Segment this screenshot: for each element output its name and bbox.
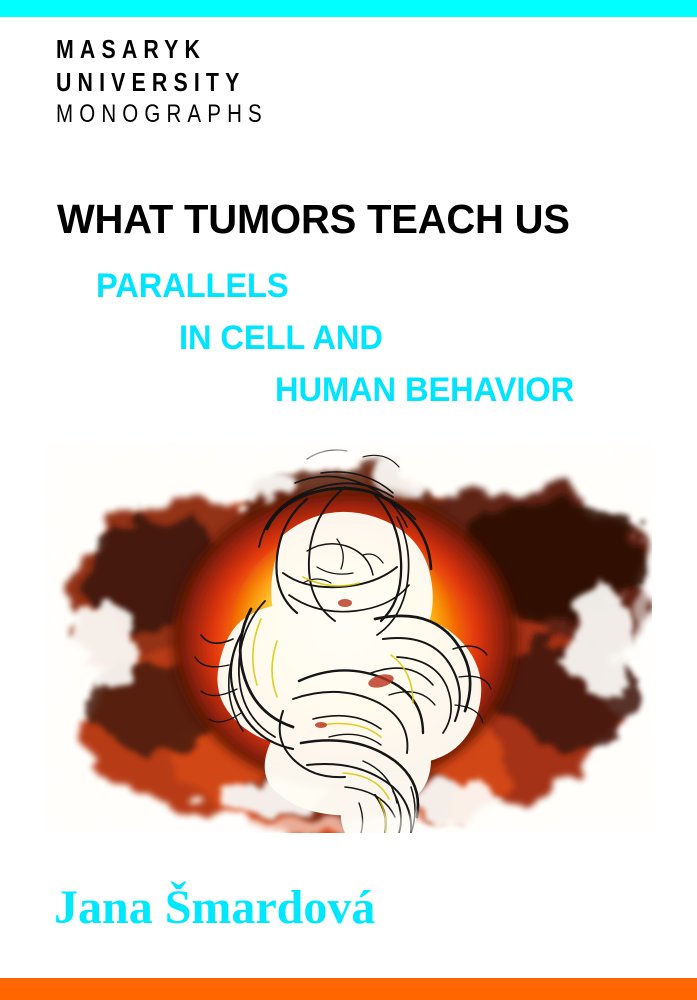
- cover-artwork: [45, 443, 652, 833]
- publisher-line-university: UNIVERSITY: [56, 69, 268, 95]
- book-subtitle-line-1: PARALLELS: [96, 269, 289, 303]
- bottom-accent-bar: [0, 978, 697, 1000]
- cover-artwork-illustration: [45, 443, 652, 833]
- book-subtitle-line-3: HUMAN BEHAVIOR: [275, 373, 574, 407]
- book-subtitle-line-2: IN CELL AND: [179, 321, 383, 355]
- author-name: Jana Šmardová: [54, 884, 375, 932]
- book-main-title: WHAT TUMORS TEACH US: [57, 199, 624, 240]
- publisher-line-monographs: MONOGRAPHS: [56, 102, 268, 127]
- publisher-imprint: MASARYK UNIVERSITY MONOGRAPHS: [56, 36, 314, 127]
- publisher-line-masaryk: MASARYK: [56, 36, 268, 62]
- top-accent-bar: [0, 0, 697, 17]
